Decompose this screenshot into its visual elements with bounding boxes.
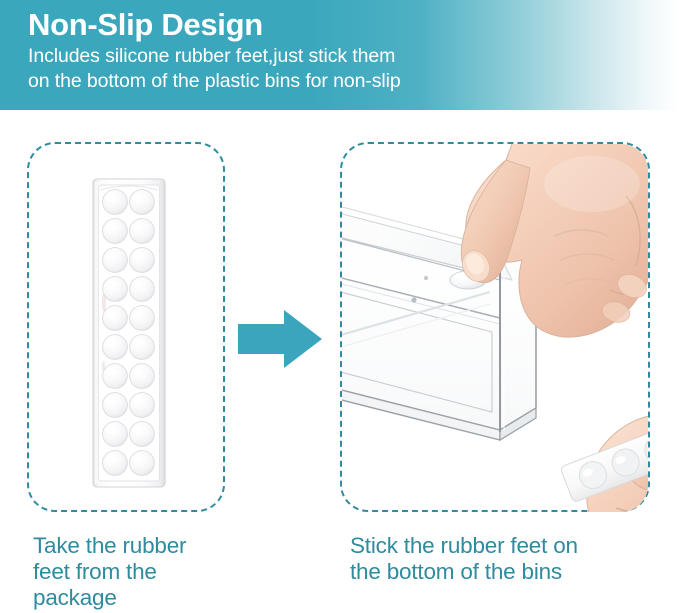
header-banner: Non-Slip Design Includes silicone rubber… <box>0 0 679 110</box>
header-subtitle-line-2: on the bottom of the plastic bins for no… <box>28 69 679 94</box>
page-title: Non-Slip Design <box>28 6 679 44</box>
caption-left-line-1: Take the rubber <box>33 533 248 559</box>
header-subtitle-line-1: Includes silicone rubber feet,just stick… <box>28 44 679 69</box>
caption-left-line-3: package <box>33 585 248 611</box>
blister-pack-image <box>92 178 166 488</box>
caption-left-line-2: feet from the <box>33 559 248 585</box>
next-step-arrow <box>238 310 322 368</box>
caption-right-line-2: the bottom of the bins <box>350 559 650 585</box>
caption-right-line-1: Stick the rubber feet on <box>350 533 650 559</box>
bin-and-hands-image <box>340 140 679 515</box>
caption-right: Stick the rubber feet on the bottom of t… <box>350 533 650 585</box>
caption-left: Take the rubber feet from the package <box>33 533 248 611</box>
